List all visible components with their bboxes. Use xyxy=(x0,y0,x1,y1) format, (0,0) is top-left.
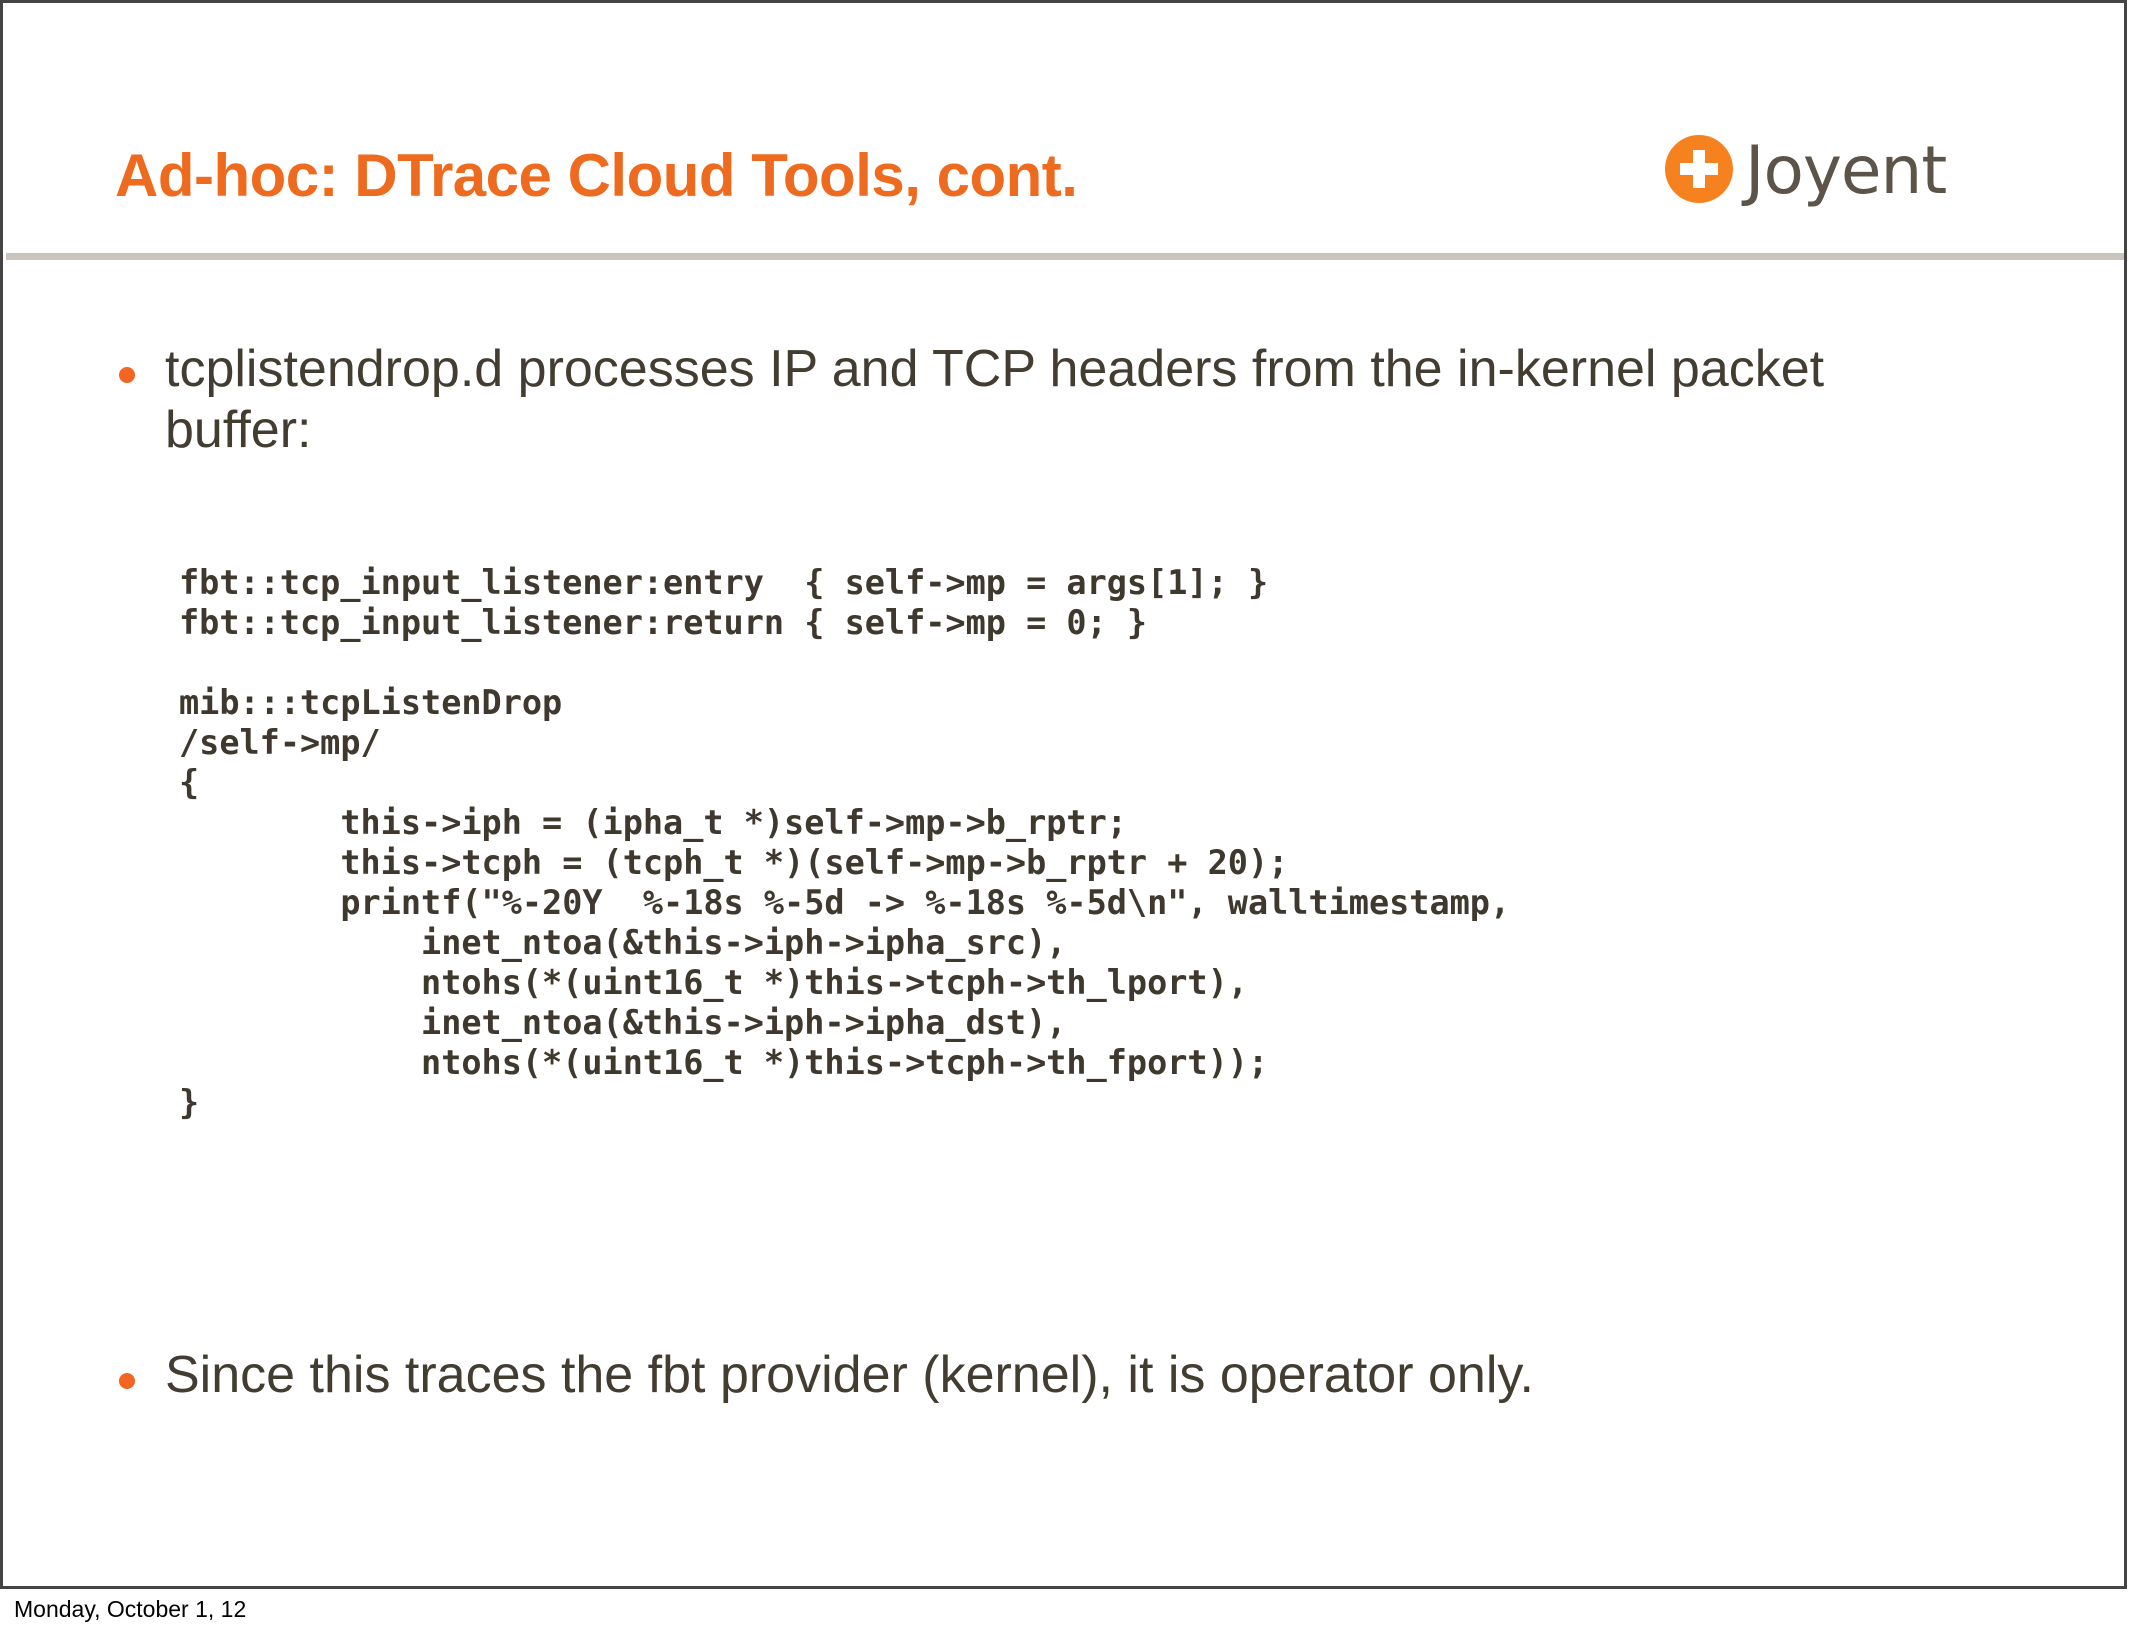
joyent-plus-mark-icon xyxy=(1665,135,1733,203)
page-title: Ad-hoc: DTrace Cloud Tools, cont. xyxy=(115,141,1077,210)
bullet-dot-icon xyxy=(119,1373,135,1389)
slide-header: Ad-hoc: DTrace Cloud Tools, cont. Joyent xyxy=(3,3,2124,259)
code-snippet: fbt::tcp_input_listener:entry { self->mp… xyxy=(179,563,1510,1123)
slide-body: tcplistendrop.d processes IP and TCP hea… xyxy=(3,259,2124,1589)
bullet-dot-icon xyxy=(119,367,135,383)
slide-frame: Ad-hoc: DTrace Cloud Tools, cont. Joyent… xyxy=(0,0,2127,1589)
joyent-wordmark: Joyent xyxy=(1745,138,1946,204)
list-item: tcplistendrop.d processes IP and TCP hea… xyxy=(119,339,1919,462)
bullet-text: tcplistendrop.d processes IP and TCP hea… xyxy=(165,339,1919,462)
list-item: Since this traces the fbt provider (kern… xyxy=(119,1345,2019,1406)
bullet-text: Since this traces the fbt provider (kern… xyxy=(165,1345,1534,1406)
joyent-logo: Joyent xyxy=(1665,135,1946,203)
footer-date: Monday, October 1, 12 xyxy=(14,1596,246,1623)
